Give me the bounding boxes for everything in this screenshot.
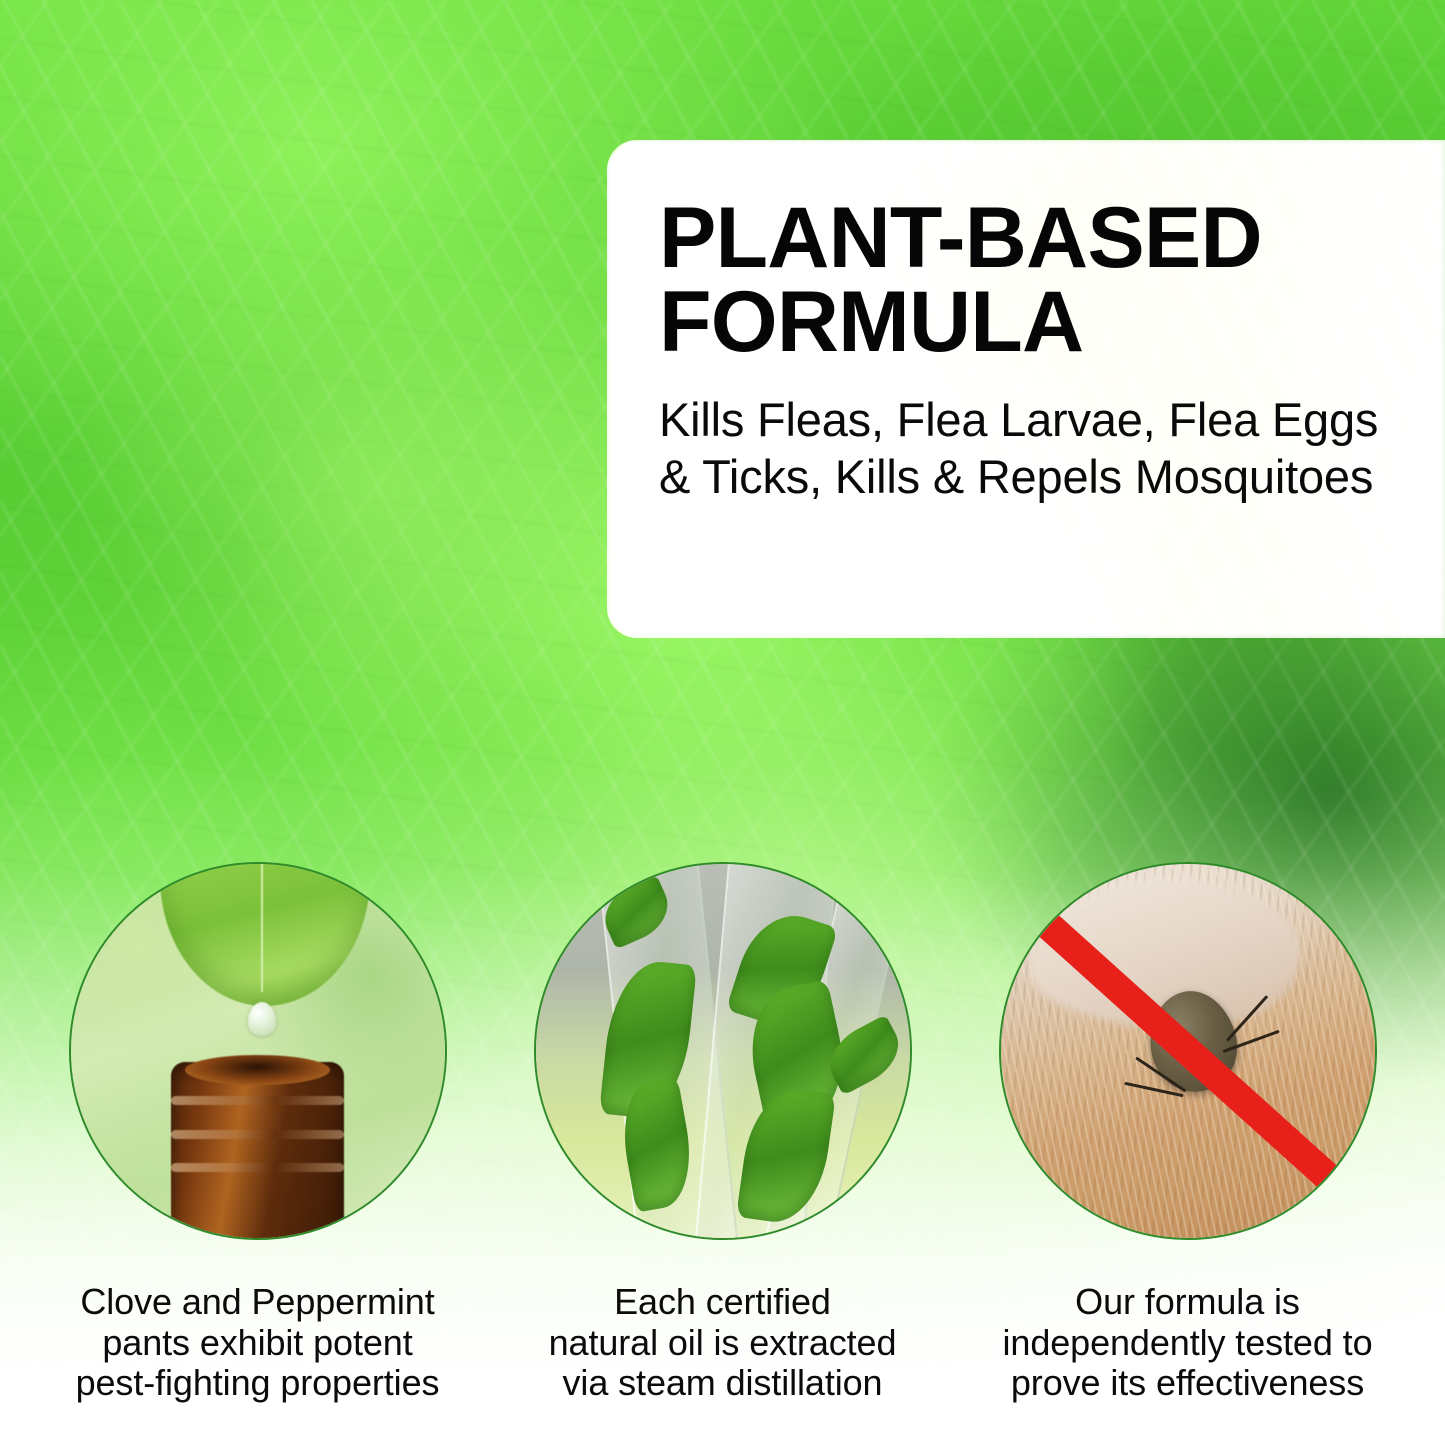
leaves-in-test-tubes-icon: [536, 864, 910, 1238]
headline-subtitle: Kills Fleas, Flea Larvae, Flea Eggs & Ti…: [659, 391, 1379, 507]
amber-bottle-icon: [171, 1062, 343, 1240]
bottle-thread-ring: [171, 1163, 343, 1172]
bottle-thread-ring: [171, 1130, 343, 1139]
feature-image-circle-3: [999, 862, 1377, 1240]
feature-caption: Each certified natural oil is extracted …: [549, 1282, 897, 1404]
feature-image-circle-2: [534, 862, 912, 1240]
headline-card: PLANT-BASED FORMULA Kills Fleas, Flea La…: [607, 140, 1445, 638]
feature-caption: Clove and Peppermint pants exhibit poten…: [76, 1282, 440, 1404]
leaf-icon: [160, 862, 369, 1006]
feature-image-circle-1: [69, 862, 447, 1240]
oil-droplet-icon: [248, 1002, 276, 1036]
product-feature-poster: PLANT-BASED FORMULA Kills Fleas, Flea La…: [0, 0, 1445, 1445]
feature-item-clove-peppermint: Clove and Peppermint pants exhibit poten…: [68, 862, 448, 1404]
tick-on-dog-fur-icon: [1001, 864, 1375, 1238]
headline-card-content: PLANT-BASED FORMULA Kills Fleas, Flea La…: [659, 196, 1395, 506]
bottle-thread-ring: [171, 1096, 343, 1105]
feature-item-independently-tested: Our formula is independently tested to p…: [998, 862, 1378, 1404]
feature-caption: Our formula is independently tested to p…: [1003, 1282, 1373, 1404]
page-title: PLANT-BASED FORMULA: [659, 196, 1395, 365]
feature-item-steam-distillation: Each certified natural oil is extracted …: [533, 862, 913, 1404]
leaf-oil-drop-bottle-icon: [71, 864, 445, 1238]
feature-list: Clove and Peppermint pants exhibit poten…: [0, 862, 1445, 1404]
